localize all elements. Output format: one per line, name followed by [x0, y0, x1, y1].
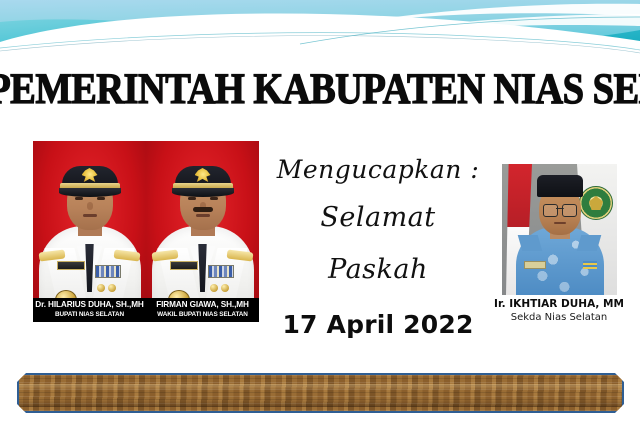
sekda-caption: Ir. IKHTIAR DUHA, MM Sekda Nias Selatan	[478, 297, 640, 325]
caption-wakil-name: FIRMAN GIAWA, SH.,MH	[146, 300, 259, 310]
service-ribbon-bar	[208, 265, 234, 278]
wood-shadow	[19, 400, 622, 407]
uniform-nametag	[170, 261, 198, 270]
shirt-collar-left	[518, 235, 543, 251]
peci-cap	[537, 175, 583, 197]
officer-figure-wakil	[146, 141, 259, 322]
photo-wakil-bupati	[146, 141, 259, 322]
page-title-text: PEMERINTAH KABUPATEN NIAS SELATAN	[0, 66, 640, 115]
caption-bupati: Dr. HILARIUS DUHA, SH.,MH BUPATI NIAS SE…	[33, 300, 146, 319]
page-title: PEMERINTAH KABUPATEN NIAS SELATAN	[0, 66, 640, 108]
officer-figure-bupati	[33, 141, 146, 322]
sekda-name: Ir. IKHTIAR DUHA, MM	[478, 297, 640, 311]
cap-visor	[59, 188, 121, 197]
lens-right	[562, 204, 577, 217]
shirt-nametag	[524, 261, 546, 269]
cap-visor	[172, 188, 234, 197]
mouth	[83, 214, 97, 217]
lens-left	[543, 204, 558, 217]
sekda-photo	[502, 164, 617, 295]
wooden-divider-bar	[17, 373, 624, 413]
emblem-inner-shape	[589, 196, 603, 210]
wave-banner	[0, 0, 640, 57]
duo-caption-bar: Dr. HILARIUS DUHA, SH.,MH BUPATI NIAS SE…	[33, 298, 259, 322]
sekda-role: Sekda Nias Selatan	[478, 311, 640, 325]
greeting-line-2: Selamat Paskah	[268, 192, 488, 296]
eye-left	[75, 197, 83, 200]
caption-bupati-name: Dr. HILARIUS DUHA, SH.,MH	[33, 300, 146, 310]
eye-right	[210, 197, 218, 200]
medal-a	[97, 284, 105, 292]
eye-right	[97, 197, 105, 200]
peaked-cap	[172, 166, 234, 196]
medal-b	[108, 284, 116, 292]
photo-bupati	[33, 141, 146, 322]
institution-emblem-icon	[579, 186, 613, 220]
medal-b	[221, 284, 229, 292]
mouth	[554, 222, 566, 224]
mouth	[196, 214, 210, 217]
caption-bupati-role: BUPATI NIAS SELATAN	[33, 310, 146, 319]
greeting-line-1: Mengucapkan :	[268, 148, 488, 192]
shirt-rank-patch	[583, 261, 597, 269]
service-ribbon-bar	[95, 265, 121, 278]
caption-wakil-bupati: FIRMAN GIAWA, SH.,MH WAKIL BUPATI NIAS S…	[146, 300, 259, 319]
officials-duo-photo: Dr. HILARIUS DUHA, SH.,MH BUPATI NIAS SE…	[33, 141, 259, 322]
medal-a	[210, 284, 218, 292]
caption-wakil-role: WAKIL BUPATI NIAS SELATAN	[146, 310, 259, 319]
greeting-date: 17 April 2022	[268, 310, 488, 340]
uniform-nametag	[57, 261, 85, 270]
eye-left	[188, 197, 196, 200]
wood-highlight	[19, 384, 622, 390]
nose	[87, 202, 93, 210]
greeting-block: Mengucapkan : Selamat Paskah 17 April 20…	[268, 148, 488, 340]
peaked-cap	[59, 166, 121, 196]
mustache	[193, 207, 213, 212]
greeting-slide: PEMERINTAH KABUPATEN NIAS SELATAN	[0, 0, 640, 427]
eyeglasses-icon	[543, 204, 577, 215]
